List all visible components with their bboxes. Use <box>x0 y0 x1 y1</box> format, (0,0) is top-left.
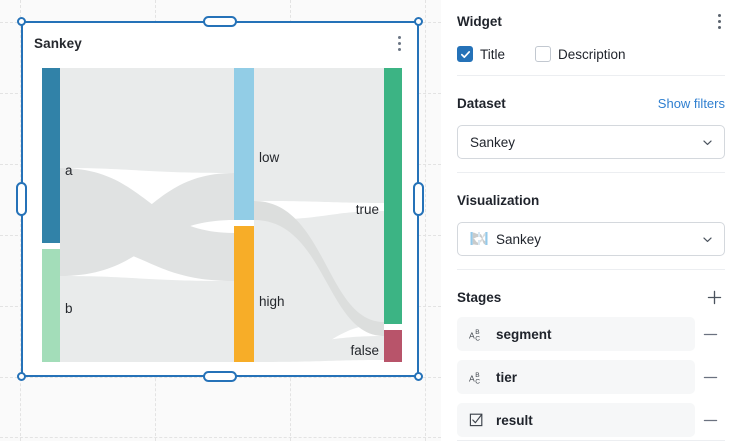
dataset-section: Dataset Show filters Sankey <box>457 92 725 159</box>
remove-stage-result-button[interactable] <box>695 412 725 429</box>
widget-header: Sankey <box>23 23 417 63</box>
stage-chip-segment[interactable]: A B C segment <box>457 317 695 351</box>
sankey-node-b[interactable] <box>42 249 60 362</box>
sankey-label-b: b <box>65 301 73 316</box>
widget-section-title: Widget <box>457 14 502 29</box>
add-stage-button[interactable] <box>703 286 725 308</box>
stage-row-result: result <box>457 403 725 437</box>
resize-handle-bottom-right[interactable] <box>414 372 423 381</box>
widget-menu-icon[interactable] <box>392 30 407 57</box>
svg-text:C: C <box>475 336 480 342</box>
link-b-high <box>60 276 234 362</box>
checkbox-title[interactable]: Title <box>457 46 505 62</box>
sankey-label-a: a <box>65 163 73 178</box>
text-type-icon: A B C <box>469 326 486 342</box>
remove-stage-segment-button[interactable] <box>695 326 725 343</box>
stage-chip-tier[interactable]: A B C tier <box>457 360 695 394</box>
resize-handle-top-left[interactable] <box>17 17 26 26</box>
visualization-section-header: Visualization <box>457 189 725 211</box>
boolean-type-icon <box>469 412 486 428</box>
stages-section: Stages A B C <box>457 286 725 437</box>
sankey-svg: a b low high true false <box>38 68 406 362</box>
stage-label-result: result <box>496 413 533 428</box>
sankey-label-false: false <box>350 343 379 358</box>
checkbox-title-label: Title <box>480 47 505 62</box>
widget-options-row: Title Description <box>457 46 725 62</box>
editor-root: Sankey <box>0 0 741 441</box>
divider-3 <box>457 269 725 270</box>
visualization-section: Visualization <box>457 189 725 256</box>
dataset-select[interactable]: Sankey <box>457 125 725 159</box>
chevron-down-icon <box>701 136 714 149</box>
stage-row-tier: A B C tier <box>457 360 725 394</box>
divider-2 <box>457 172 725 173</box>
sankey-node-low[interactable] <box>234 68 254 220</box>
sankey-node-false[interactable] <box>384 330 402 362</box>
check-icon <box>460 49 471 60</box>
checkbox-description-box[interactable] <box>535 46 551 62</box>
dataset-section-header: Dataset Show filters <box>457 92 725 114</box>
link-low-true <box>254 68 384 203</box>
widget-section-header: Widget <box>457 10 725 33</box>
resize-handle-top-right[interactable] <box>414 17 423 26</box>
sankey-chart[interactable]: a b low high true false <box>38 68 406 362</box>
properties-panel: Widget Title Description <box>441 0 741 441</box>
sankey-label-low: low <box>259 150 280 165</box>
sankey-node-high[interactable] <box>234 226 254 362</box>
widget-selection-frame[interactable]: Sankey <box>21 21 419 377</box>
dashboard-canvas[interactable]: Sankey <box>0 0 441 441</box>
resize-handle-top[interactable] <box>203 16 237 27</box>
remove-stage-tier-button[interactable] <box>695 369 725 386</box>
checkbox-description[interactable]: Description <box>535 46 626 62</box>
dataset-section-title: Dataset <box>457 96 506 111</box>
stage-chip-result[interactable]: result <box>457 403 695 437</box>
sankey-label-high: high <box>259 294 285 309</box>
sankey-label-true: true <box>356 202 379 217</box>
checkbox-description-label: Description <box>558 47 626 62</box>
show-filters-link[interactable]: Show filters <box>658 96 725 111</box>
visualization-select-value: Sankey <box>496 232 541 247</box>
resize-handle-bottom[interactable] <box>203 371 237 382</box>
panel-menu-icon[interactable] <box>714 10 725 33</box>
stage-row-segment: A B C segment <box>457 317 725 351</box>
link-a-low <box>60 68 234 173</box>
svg-text:C: C <box>475 379 480 385</box>
dataset-select-value: Sankey <box>470 135 515 150</box>
resize-handle-left[interactable] <box>16 182 27 216</box>
resize-handle-bottom-left[interactable] <box>17 372 26 381</box>
stages-section-title: Stages <box>457 290 501 305</box>
stage-label-segment: segment <box>496 327 552 342</box>
text-type-icon: A B C <box>469 369 486 385</box>
chevron-down-icon <box>701 233 714 246</box>
sankey-node-true[interactable] <box>384 68 402 324</box>
widget-title: Sankey <box>34 36 82 51</box>
svg-text:A: A <box>469 331 475 341</box>
stage-label-tier: tier <box>496 370 517 385</box>
resize-handle-right[interactable] <box>413 182 424 216</box>
sankey-chart-icon <box>470 231 488 247</box>
visualization-select[interactable]: Sankey <box>457 222 725 256</box>
divider-1 <box>457 75 725 76</box>
sankey-node-a[interactable] <box>42 68 60 243</box>
checkbox-title-box[interactable] <box>457 46 473 62</box>
visualization-section-title: Visualization <box>457 193 539 208</box>
stages-section-header: Stages <box>457 286 725 308</box>
svg-text:A: A <box>469 374 475 384</box>
sankey-links <box>60 68 384 362</box>
